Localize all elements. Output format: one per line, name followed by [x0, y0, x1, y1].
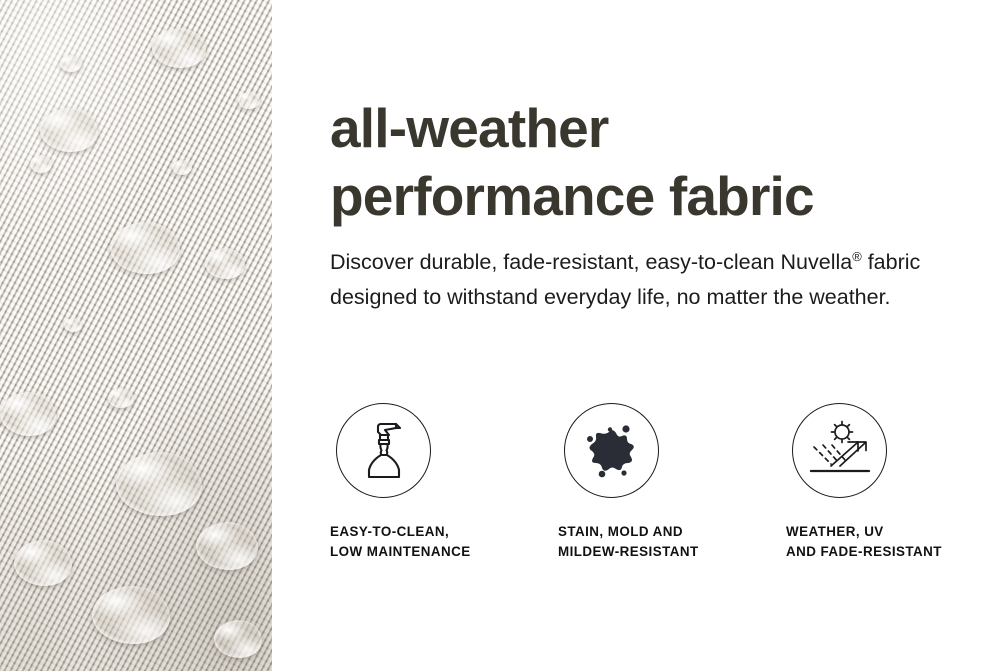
stain-splat-icon: [582, 422, 642, 480]
content-panel: all-weather performance fabric Discover …: [272, 0, 1005, 671]
water-droplet: [64, 318, 82, 332]
all-weather-fabric-banner: all-weather performance fabric Discover …: [0, 0, 1005, 671]
water-droplet: [110, 222, 180, 274]
water-droplet: [238, 92, 260, 109]
water-droplet: [196, 522, 258, 570]
spray-bottle-icon: [355, 419, 413, 483]
feature-item-stain-resistant: STAIN, MOLD AND MILDEW-RESISTANT: [558, 403, 786, 562]
page-title: all-weather performance fabric: [330, 94, 990, 230]
subcopy-lead: Discover durable, fade-resistant, easy-t…: [330, 250, 852, 274]
water-droplet: [40, 108, 98, 152]
water-droplet: [116, 452, 202, 516]
water-droplet: [152, 28, 206, 68]
fabric-photo-panel: [0, 0, 272, 671]
feature-caption: EASY-TO-CLEAN, LOW MAINTENANCE: [330, 522, 558, 562]
feature-item-weather-uv-resistant: WEATHER, UV AND FADE-RESISTANT: [786, 403, 1005, 562]
feature-icon-badge: [564, 403, 659, 498]
feature-icon-badge: [792, 403, 887, 498]
water-droplet: [30, 155, 52, 173]
feature-list: EASY-TO-CLEAN, LOW MAINTENANCE: [330, 403, 1005, 562]
water-droplet: [172, 160, 192, 175]
feature-icon-badge: [336, 403, 431, 498]
feature-caption: WEATHER, UV AND FADE-RESISTANT: [786, 522, 1005, 562]
registered-trademark-mark: ®: [852, 249, 862, 264]
water-droplet: [60, 55, 82, 72]
water-droplet: [0, 392, 56, 436]
water-droplet: [14, 540, 72, 586]
sun-uv-deflect-icon: [807, 420, 873, 482]
water-droplet: [205, 248, 245, 279]
water-droplet: [108, 388, 134, 408]
feature-caption: STAIN, MOLD AND MILDEW-RESISTANT: [558, 522, 786, 562]
feature-item-easy-to-clean: EASY-TO-CLEAN, LOW MAINTENANCE: [330, 403, 558, 562]
water-droplet: [92, 586, 170, 644]
subcopy-text: Discover durable, fade-resistant, easy-t…: [330, 245, 960, 315]
water-droplet: [214, 620, 262, 658]
